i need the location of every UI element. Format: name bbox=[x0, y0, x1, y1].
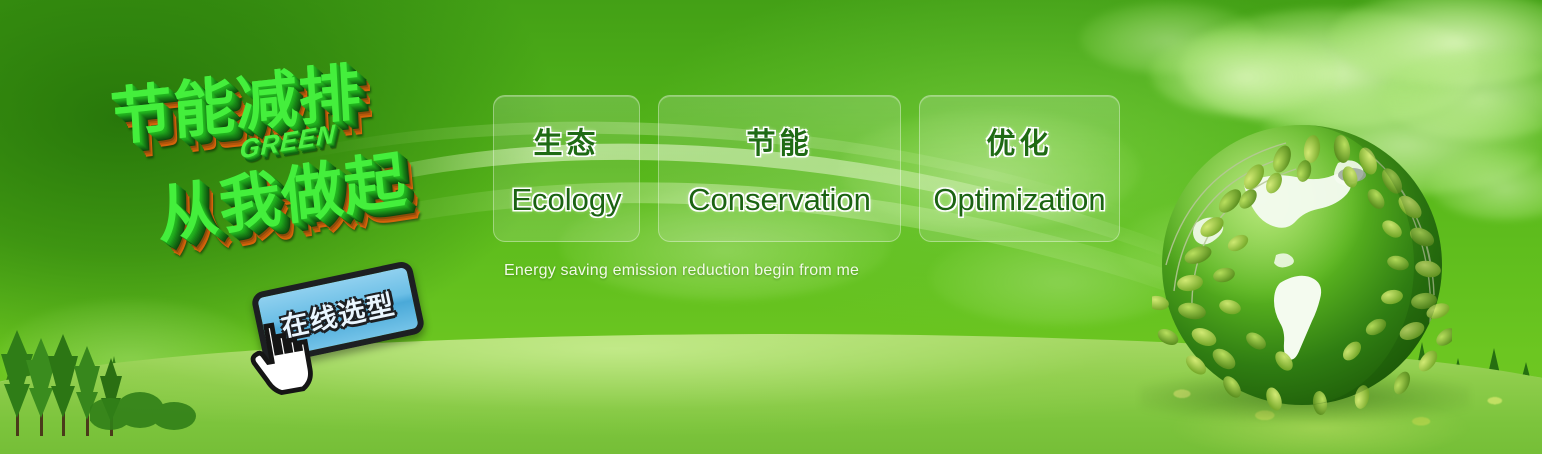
feature-card-cn-label: 节能 bbox=[746, 120, 812, 162]
cloud-icon bbox=[1080, 2, 1260, 74]
cloud-icon bbox=[1120, 200, 1320, 290]
feature-card-optimization[interactable]: 优化 Optimization bbox=[919, 95, 1120, 242]
feature-card-ecology[interactable]: 生态 Ecology bbox=[493, 95, 640, 242]
grass-field-icon bbox=[0, 334, 1542, 454]
feature-card-cn-label: 优化 bbox=[986, 120, 1052, 162]
tree-icon bbox=[90, 374, 210, 430]
logo-line-green: GREEN bbox=[239, 118, 337, 166]
green-energy-banner: 节能减排 GREEN 从我做起 在线选型 生态 Ecology 节能 Conse… bbox=[0, 0, 1542, 454]
logo-line-bottom: 从我做起 bbox=[152, 129, 410, 256]
cloud-icon bbox=[1380, 50, 1542, 140]
feature-card-en-label: Optimization bbox=[933, 182, 1105, 218]
cloud-icon bbox=[1150, 30, 1340, 116]
cloud-icon bbox=[1330, 0, 1542, 86]
feature-card-en-label: Ecology bbox=[511, 182, 621, 218]
logo-line-top: 节能减排 bbox=[108, 41, 363, 157]
feature-card-list: 生态 Ecology 节能 Conservation 优化 Optimizati… bbox=[493, 95, 1120, 242]
banner-tagline: Energy saving emission reduction begin f… bbox=[504, 262, 859, 280]
feature-card-cn-label: 生态 bbox=[533, 120, 599, 162]
cloud-icon bbox=[1430, 150, 1542, 220]
feature-card-conservation[interactable]: 节能 Conservation bbox=[658, 95, 901, 242]
logo-3d-text: 节能减排 GREEN 从我做起 bbox=[83, 19, 501, 290]
feature-card-en-label: Conservation bbox=[688, 182, 871, 218]
cloud-icon bbox=[1180, 8, 1480, 128]
cloud-icon bbox=[930, 230, 1190, 325]
cloud-icon bbox=[1260, 85, 1542, 195]
online-selection-label: 在线选型 bbox=[277, 282, 399, 344]
